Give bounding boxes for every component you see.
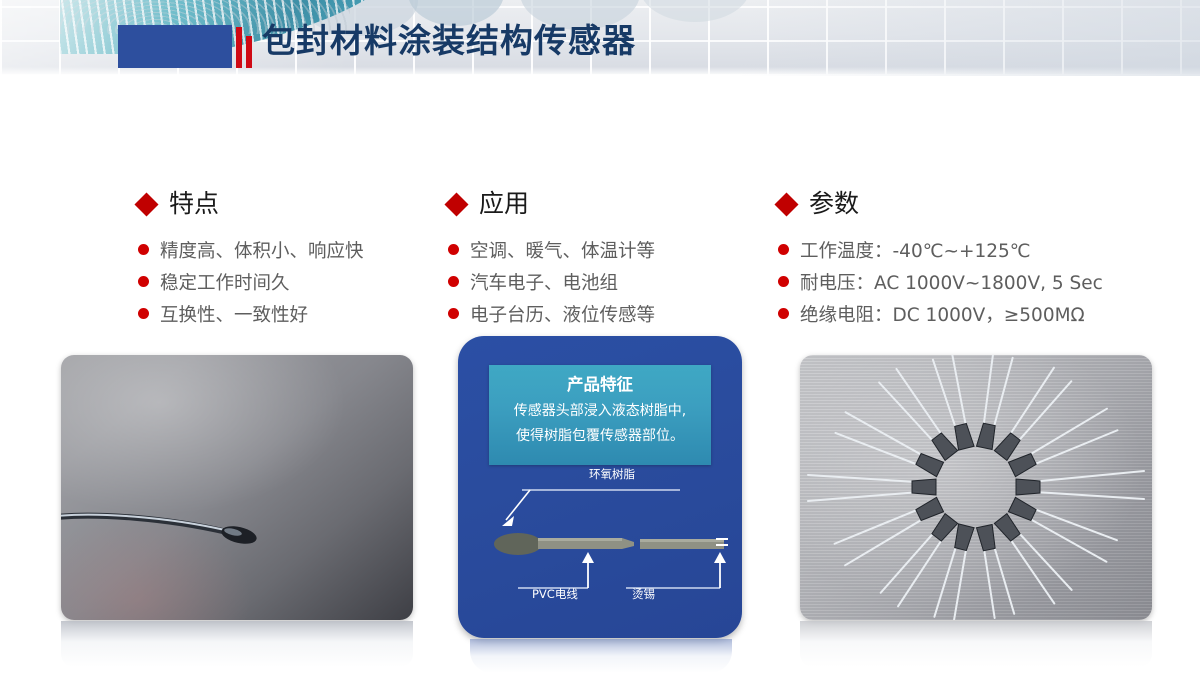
feature-callout-box: 产品特征 传感器头部浸入液态树脂中, 使得树脂包覆传感器部位。: [489, 365, 711, 465]
applications-bullet-2: 汽车电子、电池组: [470, 270, 618, 297]
sensor-diagram-svg: [458, 464, 742, 638]
list-item: 电子台历、液位传感等: [448, 302, 748, 329]
features-bullet-2: 稳定工作时间久: [160, 270, 290, 297]
bullet-dot-icon: [138, 276, 149, 287]
list-item: 互换性、一致性好: [138, 302, 438, 329]
list-item: 稳定工作时间久: [138, 270, 438, 297]
sensor-wire-illustration: [61, 510, 317, 546]
list-item: 绝缘电阻：DC 1000V，≥500MΩ: [778, 302, 1178, 329]
column-features: 特点 精度高、体积小、响应快 稳定工作时间久 互换性、一致性好: [138, 186, 438, 334]
bullet-dot-icon: [448, 276, 459, 287]
applications-list: 空调、暖气、体温计等 汽车电子、电池组 电子台历、液位传感等: [448, 238, 748, 329]
feature-title: 产品特征: [489, 371, 711, 399]
sensor-structure-diagram: 环氧树脂 PVC电线 烫锡: [458, 464, 742, 638]
list-item: 精度高、体积小、响应快: [138, 238, 438, 265]
label-tin-plating: 烫锡: [632, 586, 655, 602]
header-red-bar-2: [246, 36, 252, 68]
photo-sensor-array: [800, 355, 1152, 620]
parameters-bullet-2: 耐电压：AC 1000V~1800V, 5 Sec: [800, 270, 1103, 297]
header-blue-block: [118, 25, 232, 68]
product-feature-panel: 产品特征 传感器头部浸入液态树脂中, 使得树脂包覆传感器部位。: [458, 336, 742, 638]
parameters-title: 参数: [809, 189, 859, 219]
bullet-dot-icon: [448, 308, 459, 319]
panel-reflection: [470, 639, 732, 673]
bullet-dot-icon: [778, 244, 789, 255]
feature-line-1: 传感器头部浸入液态树脂中,: [489, 399, 711, 424]
photo-left-reflection: [61, 621, 413, 667]
diamond-icon: [134, 192, 158, 216]
bullet-dot-icon: [778, 276, 789, 287]
parameters-heading: 参数: [778, 186, 1178, 222]
feature-line-2: 使得树脂包覆传感器部位。: [489, 424, 711, 449]
applications-bullet-3: 电子台历、液位传感等: [470, 302, 655, 329]
parameters-list: 工作温度：-40℃~+125℃ 耐电压：AC 1000V~1800V, 5 Se…: [778, 238, 1178, 329]
bullet-dot-icon: [778, 308, 789, 319]
applications-heading: 应用: [448, 186, 748, 222]
features-bullet-1: 精度高、体积小、响应快: [160, 238, 364, 265]
features-title: 特点: [169, 189, 219, 219]
bullet-dot-icon: [138, 244, 149, 255]
list-item: 耐电压：AC 1000V~1800V, 5 Sec: [778, 270, 1178, 297]
page-title: 包封材料涂装结构传感器: [262, 21, 636, 61]
parameters-bullet-1: 工作温度：-40℃~+125℃: [800, 238, 1031, 265]
list-item: 汽车电子、电池组: [448, 270, 748, 297]
features-heading: 特点: [138, 186, 438, 222]
column-parameters: 参数 工作温度：-40℃~+125℃ 耐电压：AC 1000V~1800V, 5…: [778, 186, 1178, 334]
photo-right-reflection: [800, 621, 1152, 667]
header-red-bar-1: [236, 27, 242, 68]
applications-bullet-1: 空调、暖气、体温计等: [470, 238, 655, 265]
list-item: 工作温度：-40℃~+125℃: [778, 238, 1178, 265]
column-applications: 应用 空调、暖气、体温计等 汽车电子、电池组 电子台历、液位传感等: [448, 186, 748, 334]
bullet-dot-icon: [138, 308, 149, 319]
features-bullet-3: 互换性、一致性好: [160, 302, 308, 329]
thermistor-array-illustration: [800, 355, 1152, 620]
photo-sensor-closeup: [61, 355, 413, 620]
parameters-bullet-3: 绝缘电阻：DC 1000V，≥500MΩ: [800, 302, 1085, 329]
label-pvc-wire: PVC电线: [532, 586, 578, 602]
diamond-icon: [774, 192, 798, 216]
page-header: 包封材料涂装结构传感器: [0, 0, 1200, 76]
list-item: 空调、暖气、体温计等: [448, 238, 748, 265]
diamond-icon: [444, 192, 468, 216]
bullet-dot-icon: [448, 244, 459, 255]
features-list: 精度高、体积小、响应快 稳定工作时间久 互换性、一致性好: [138, 238, 438, 329]
applications-title: 应用: [479, 189, 529, 219]
label-epoxy-resin: 环氧树脂: [589, 466, 635, 482]
